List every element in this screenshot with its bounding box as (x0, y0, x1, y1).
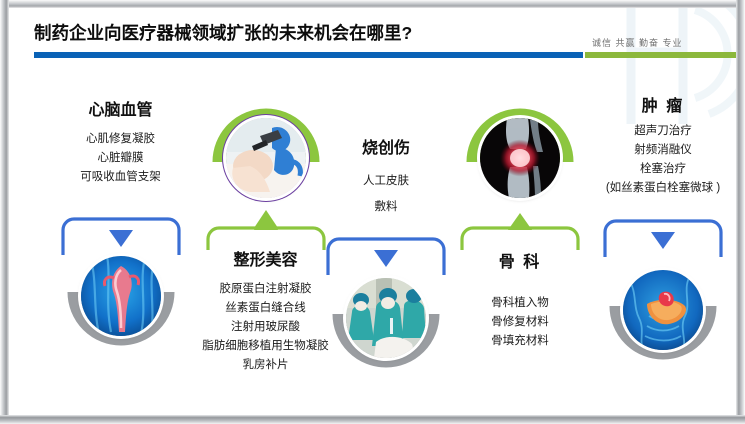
title-underline-blue (34, 52, 583, 58)
cluster-items: 人工皮肤 敷料 (316, 168, 456, 220)
page-title: 制药企业向医疗器械领域扩张的未来机会在哪里? (34, 20, 412, 45)
slide-edge-top (0, 0, 745, 8)
image-cosmetic-injection-procedure (226, 118, 306, 198)
list-item: 射频消融仪 (585, 141, 741, 160)
cluster-orthopedics[interactable]: 骨 科 骨科植入物 骨修复材料 骨填充材料 (449, 104, 591, 351)
list-item: (如丝素蛋白栓塞微球 ) (585, 179, 741, 198)
image-surgical-team-operating (346, 278, 426, 358)
cluster-heading: 肿 瘤 (585, 92, 741, 116)
list-item: 敷料 (316, 194, 456, 220)
badge-cardio[interactable] (67, 242, 175, 350)
cluster-items: 骨科植入物 骨修复材料 骨填充材料 (449, 294, 591, 351)
blue-ribbon-connector (600, 216, 726, 260)
list-item: 超声刀治疗 (585, 122, 741, 141)
green-ribbon-connector (203, 206, 329, 250)
image-liver-tumor-anatomy (623, 270, 703, 350)
list-item: 骨科植入物 (449, 294, 591, 313)
image-knee-joint-xray (480, 118, 560, 198)
badge-cosmetic[interactable] (212, 104, 320, 212)
list-item: 骨填充材料 (449, 332, 591, 351)
cluster-oncology[interactable]: 肿 瘤 超声刀治疗 射频消融仪 栓塞治疗 (如丝素蛋白栓塞微球 ) (585, 92, 741, 364)
list-item: 骨修复材料 (449, 313, 591, 332)
badge-oncology[interactable] (609, 256, 717, 364)
cluster-heading: 烧创伤 (316, 134, 456, 158)
list-item: 人工皮肤 (316, 168, 456, 194)
badge-burn-trauma[interactable] (332, 264, 440, 372)
slide-edge-left (0, 0, 9, 424)
title-underline-green (585, 52, 738, 58)
green-ribbon-connector (457, 206, 583, 250)
cluster-heading: 骨 科 (449, 248, 591, 272)
slogan-text: 诚信 共赢 勤奋 专业 (592, 36, 683, 49)
badge-orthopedics[interactable] (466, 104, 574, 212)
cluster-items: 超声刀治疗 射频消融仪 栓塞治疗 (如丝素蛋白栓塞微球 ) (585, 122, 741, 198)
slide-edge-bottom (0, 415, 745, 424)
slide: 制药企业向医疗器械领域扩张的未来机会在哪里? 诚信 共赢 勤奋 专业 心脑血管 … (0, 0, 745, 424)
cluster-burn-and-trauma[interactable]: 烧创伤 人工皮肤 敷料 (316, 134, 456, 372)
list-item: 栓塞治疗 (585, 160, 741, 179)
image-aorta-blood-vessel (81, 256, 161, 336)
